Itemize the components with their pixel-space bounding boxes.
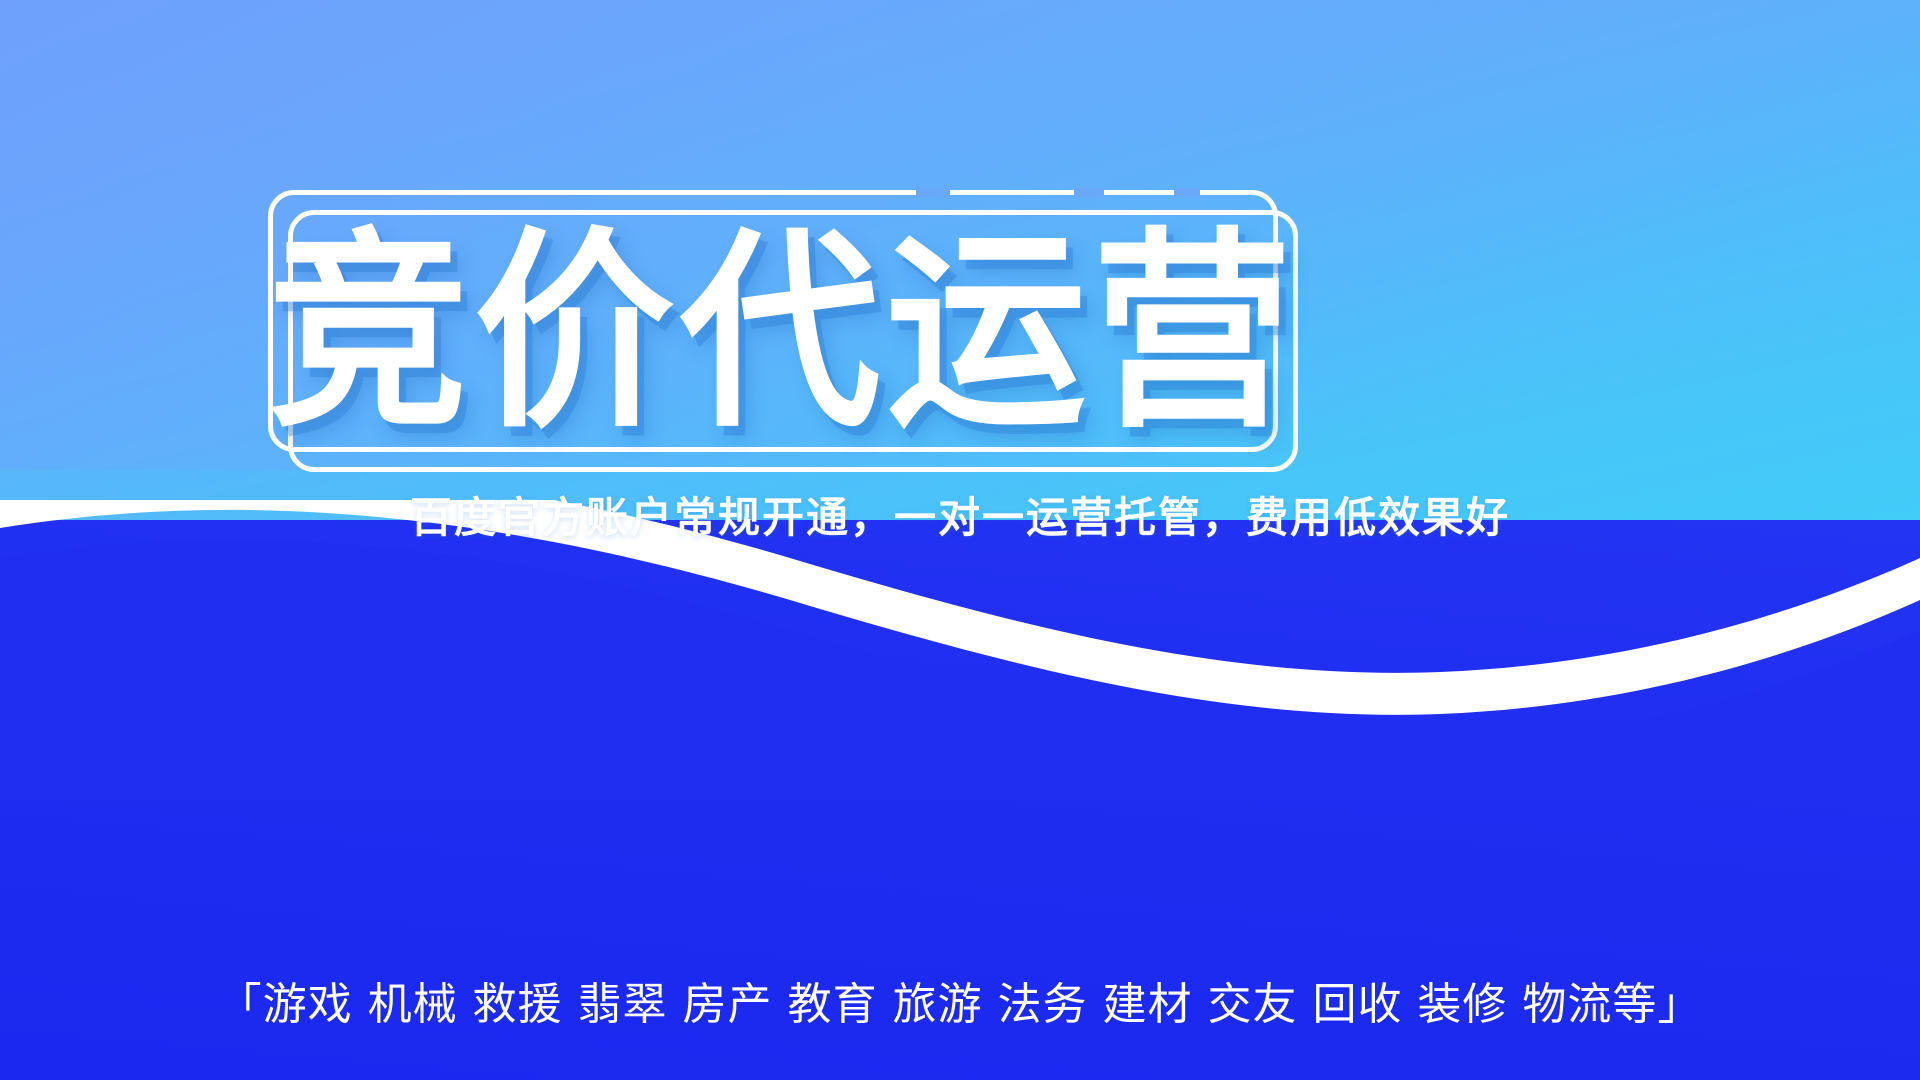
category-tagline: 「游戏 机械 救援 翡翠 房产 教育 旅游 法务 建材 交友 回收 装修 物流等… (0, 968, 1920, 1032)
promo-banner: 竞价代运营 百度官方账户常规开通，一对一运营托管，费用低效果好 「游戏 机械 救… (0, 0, 1920, 1080)
tagline-text: 「游戏 机械 救援 翡翠 房产 教育 旅游 法务 建材 交友 回收 装修 物流等… (218, 979, 1703, 1030)
subtitle: 百度官方账户常规开通，一对一运营托管，费用低效果好 (0, 484, 1920, 545)
page-title: 竞价代运营 (268, 196, 1298, 472)
headline-text: 竞价代运营 (268, 228, 1298, 440)
subtitle-text: 百度官方账户常规开通，一对一运营托管，费用低效果好 (410, 493, 1510, 542)
